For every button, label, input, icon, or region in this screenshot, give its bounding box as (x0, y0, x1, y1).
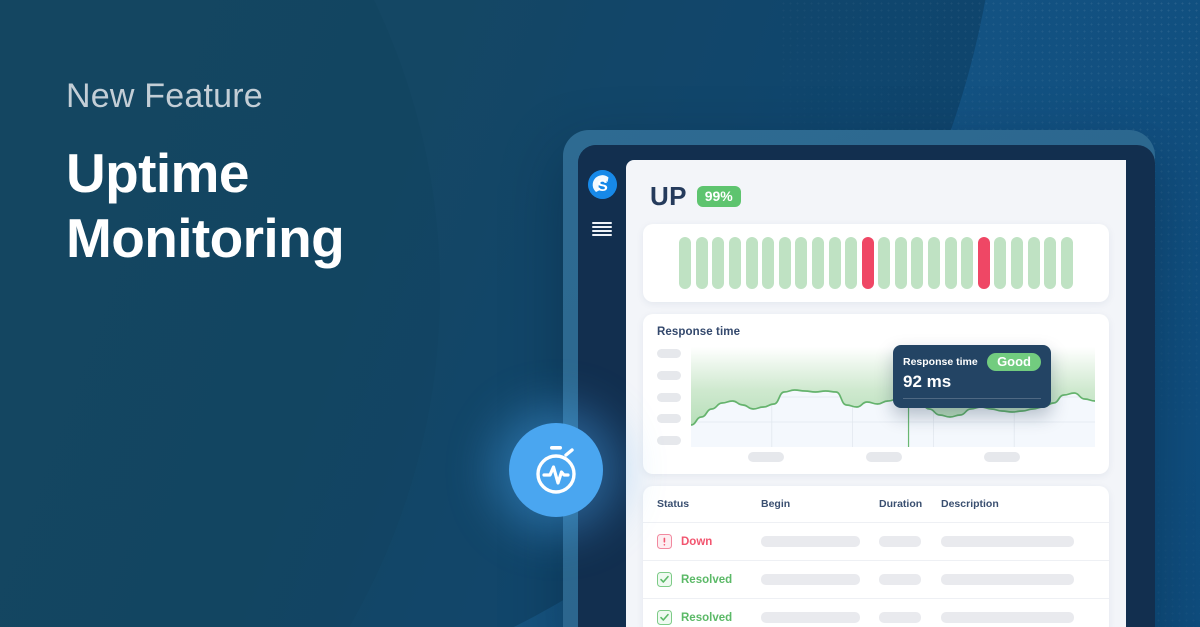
table-row[interactable]: Resolved (643, 560, 1109, 598)
response-time-card: Response time (643, 314, 1109, 474)
begin-cell (761, 536, 879, 547)
eyebrow-label: New Feature (66, 78, 526, 115)
table-body: DownResolvedResolved (643, 522, 1109, 627)
hero-text-block: New Feature Uptime Monitoring (66, 78, 526, 271)
hamburger-line (592, 226, 612, 228)
value-placeholder (941, 536, 1074, 547)
dashboard-content: UP 99% Response time (626, 160, 1126, 627)
value-placeholder (761, 612, 860, 623)
column-header-begin: Begin (761, 498, 879, 510)
duration-cell (879, 574, 941, 585)
uptime-bar[interactable] (994, 237, 1006, 289)
chart-x-axis (657, 452, 1095, 462)
uptime-bar[interactable] (812, 237, 824, 289)
check-icon (657, 610, 672, 625)
column-header-description: Description (941, 498, 1095, 510)
uptime-percentage-badge: 99% (697, 186, 741, 207)
uptime-bar[interactable] (712, 237, 724, 289)
column-header-duration: Duration (879, 498, 941, 510)
status-header: UP 99% (640, 176, 1112, 212)
description-cell (941, 574, 1095, 585)
table-row[interactable]: Resolved (643, 598, 1109, 627)
chart-tooltip: Response time Good 92 ms (893, 345, 1051, 408)
uptime-bar[interactable] (945, 237, 957, 289)
tooltip-divider (903, 398, 1041, 399)
y-axis-tick-placeholder (657, 436, 681, 445)
uptime-bar[interactable] (746, 237, 758, 289)
uptime-bar[interactable] (829, 237, 841, 289)
headline-line-2: Monitoring (66, 206, 526, 271)
uptime-bar[interactable] (928, 237, 940, 289)
status-badge: Resolved (681, 574, 732, 586)
tooltip-value: 92 ms (903, 372, 1041, 392)
uptime-bar[interactable] (1011, 237, 1023, 289)
uptime-bar[interactable] (911, 237, 923, 289)
uptime-bar[interactable] (845, 237, 857, 289)
uptime-bar[interactable] (878, 237, 890, 289)
x-axis-tick-placeholder (748, 452, 784, 462)
y-axis-tick-placeholder (657, 414, 681, 423)
value-placeholder (761, 536, 860, 547)
headline-line-1: Uptime (66, 141, 526, 206)
hamburger-line (592, 234, 612, 236)
duration-cell (879, 612, 941, 623)
check-icon (657, 572, 672, 587)
value-placeholder (761, 574, 860, 585)
uptime-bar[interactable] (895, 237, 907, 289)
y-axis-tick-placeholder (657, 349, 681, 358)
chart-y-axis (657, 347, 691, 447)
value-placeholder (941, 574, 1074, 585)
x-axis-tick-placeholder (984, 452, 1020, 462)
uptime-bar[interactable] (795, 237, 807, 289)
incidents-table-card: Status Begin Duration Description DownRe… (643, 486, 1109, 627)
uptime-bar[interactable] (779, 237, 791, 289)
alert-icon (657, 534, 672, 549)
x-axis-tick-placeholder (866, 452, 902, 462)
value-placeholder (879, 612, 921, 623)
table-header-row: Status Begin Duration Description (643, 486, 1109, 522)
uptime-bar[interactable] (1044, 237, 1056, 289)
app-sidebar: S (578, 145, 626, 627)
uptime-bar[interactable] (862, 237, 874, 289)
uptime-bars-card (643, 224, 1109, 302)
uptime-bar[interactable] (961, 237, 973, 289)
uptime-bar[interactable] (696, 237, 708, 289)
uptime-bar[interactable] (679, 237, 691, 289)
table-row[interactable]: Down (643, 522, 1109, 560)
tooltip-top-row: Response time Good (903, 353, 1041, 371)
status-title: UP (650, 181, 687, 212)
brand-logo-icon[interactable]: S (588, 170, 617, 199)
begin-cell (761, 612, 879, 623)
hamburger-line (592, 230, 612, 232)
uptime-bar[interactable] (978, 237, 990, 289)
uptime-bar[interactable] (1061, 237, 1073, 289)
description-cell (941, 536, 1095, 547)
uptime-bar-strip[interactable] (679, 237, 1073, 289)
uptime-bar[interactable] (729, 237, 741, 289)
description-cell (941, 612, 1095, 623)
response-time-title: Response time (657, 326, 1095, 338)
status-cell: Resolved (657, 572, 761, 587)
status-cell: Down (657, 534, 761, 549)
uptime-bar[interactable] (762, 237, 774, 289)
status-badge: Resolved (681, 612, 732, 624)
stopwatch-pulse-icon (509, 423, 603, 517)
tooltip-quality-badge: Good (987, 353, 1041, 371)
page-title: Uptime Monitoring (66, 141, 526, 271)
hamburger-line (592, 222, 612, 224)
status-badge: Down (681, 536, 712, 548)
y-axis-tick-placeholder (657, 393, 681, 402)
value-placeholder (941, 612, 1074, 623)
status-cell: Resolved (657, 610, 761, 625)
begin-cell (761, 574, 879, 585)
duration-cell (879, 536, 941, 547)
uptime-bar[interactable] (1028, 237, 1040, 289)
value-placeholder (879, 536, 921, 547)
column-header-status: Status (657, 498, 761, 510)
hamburger-menu-icon[interactable] (592, 222, 612, 236)
svg-text:S: S (597, 178, 608, 195)
y-axis-tick-placeholder (657, 371, 681, 380)
tooltip-label: Response time (903, 356, 978, 368)
value-placeholder (879, 574, 921, 585)
